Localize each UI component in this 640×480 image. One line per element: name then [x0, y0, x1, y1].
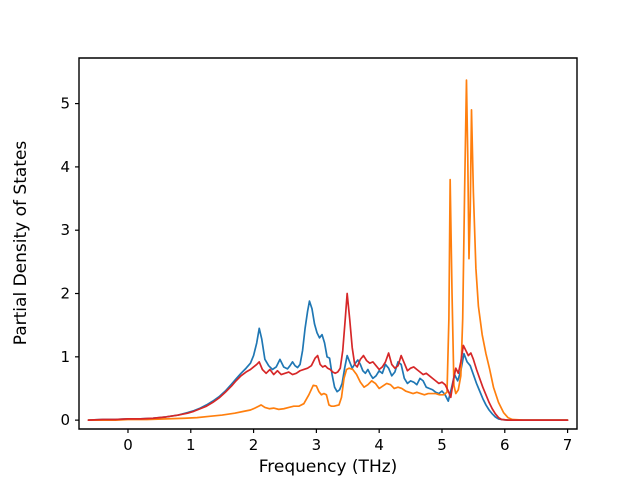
- x-tick-label: 6: [500, 436, 510, 454]
- matplotlib-figure: 01234567 012345 Frequency (THz) Partial …: [0, 0, 640, 480]
- x-tick-label: 5: [437, 436, 447, 454]
- x-tick-label: 1: [186, 436, 196, 454]
- y-tick-label: 2: [60, 285, 70, 303]
- x-tick-label: 4: [374, 436, 384, 454]
- y-tick-label: 1: [60, 348, 70, 366]
- plot-canvas: 01234567 012345 Frequency (THz) Partial …: [0, 0, 640, 480]
- x-axis-label: Frequency (THz): [259, 457, 398, 477]
- y-axis-label: Partial Density of States: [11, 141, 31, 346]
- y-tick-label: 0: [60, 411, 70, 429]
- x-axis-ticks: 01234567: [123, 429, 572, 454]
- y-axis-ticks: 012345: [60, 95, 79, 430]
- x-tick-label: 7: [563, 436, 573, 454]
- axes-frame: [79, 58, 577, 429]
- plot-background: [79, 58, 577, 429]
- y-tick-label: 5: [60, 95, 70, 113]
- x-tick-label: 0: [123, 436, 133, 454]
- y-tick-label: 4: [60, 158, 70, 176]
- y-tick-label: 3: [60, 221, 70, 239]
- x-tick-label: 3: [312, 436, 322, 454]
- x-tick-label: 2: [249, 436, 259, 454]
